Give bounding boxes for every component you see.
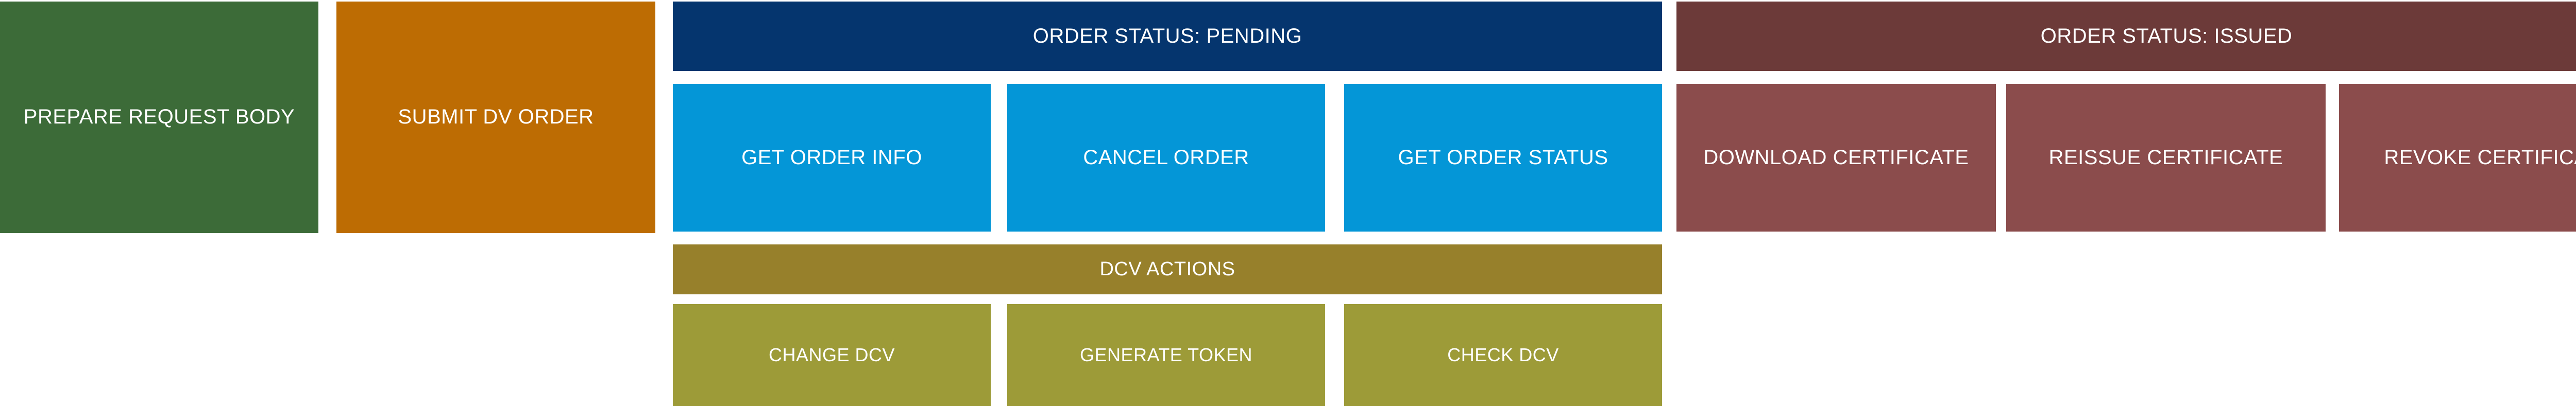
cancel-order-button[interactable]: CANCEL ORDER xyxy=(1007,84,1325,232)
reissue-certificate-label: REISSUE CERTIFICATE xyxy=(2011,145,2320,171)
dcv-actions-header: DCV ACTIONS xyxy=(673,244,1662,294)
get-order-status-button[interactable]: GET ORDER STATUS xyxy=(1344,84,1662,232)
order-status-issued-header: ORDER STATUS: ISSUED xyxy=(1676,2,2576,71)
download-certificate-button[interactable]: DOWNLOAD CERTIFICATE xyxy=(1676,84,1996,232)
cancel-order-label: CANCEL ORDER xyxy=(1012,145,1320,171)
order-status-pending-header-label: ORDER STATUS: PENDING xyxy=(678,23,1657,49)
order-status-issued-header-label: ORDER STATUS: ISSUED xyxy=(1682,23,2576,49)
generate-token-label: GENERATE TOKEN xyxy=(1012,343,1320,367)
dcv-actions-header-label: DCV ACTIONS xyxy=(678,257,1657,282)
change-dcv-button[interactable]: CHANGE DCV xyxy=(673,304,991,406)
stage-submit-dv-order-label: SUBMIT DV ORDER xyxy=(342,104,650,130)
generate-token-button[interactable]: GENERATE TOKEN xyxy=(1007,304,1325,406)
get-order-status-label: GET ORDER STATUS xyxy=(1349,145,1657,171)
stage-submit-dv-order[interactable]: SUBMIT DV ORDER xyxy=(336,2,655,233)
reissue-certificate-button[interactable]: REISSUE CERTIFICATE xyxy=(2006,84,2326,232)
workflow-diagram-canvas: PREPARE REQUEST BODY SUBMIT DV ORDER ORD… xyxy=(0,0,2576,406)
check-dcv-button[interactable]: CHECK DCV xyxy=(1344,304,1662,406)
change-dcv-label: CHANGE DCV xyxy=(678,343,986,367)
get-order-info-label: GET ORDER INFO xyxy=(678,145,986,171)
stage-prepare-request-body-label: PREPARE REQUEST BODY xyxy=(5,104,313,130)
order-status-pending-header: ORDER STATUS: PENDING xyxy=(673,2,1662,71)
check-dcv-label: CHECK DCV xyxy=(1349,343,1657,367)
stage-prepare-request-body[interactable]: PREPARE REQUEST BODY xyxy=(0,2,318,233)
get-order-info-button[interactable]: GET ORDER INFO xyxy=(673,84,991,232)
revoke-certificate-button[interactable]: REVOKE CERTIFICATE xyxy=(2339,84,2576,232)
download-certificate-label: DOWNLOAD CERTIFICATE xyxy=(1682,145,1991,171)
revoke-certificate-label: REVOKE CERTIFICATE xyxy=(2344,145,2576,171)
